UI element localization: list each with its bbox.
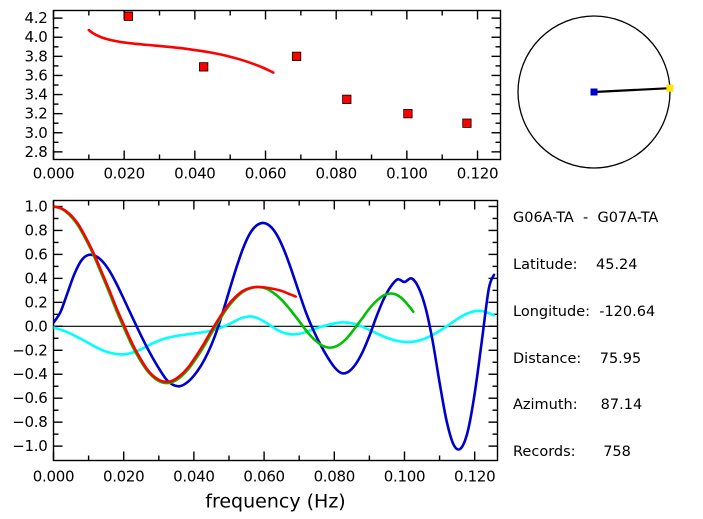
dispersion-data-point	[292, 52, 300, 60]
x-tick-label: 0.100	[384, 468, 425, 486]
y-tick-label: 0.8	[25, 221, 48, 239]
y-tick-label: 3.2	[25, 105, 48, 123]
spectrum-curve-bessel-fit-red	[54, 206, 296, 381]
y-tick-label: −0.4	[12, 365, 47, 383]
y-tick-label: 3.0	[25, 124, 48, 142]
x-tick-label: 0.040	[173, 468, 214, 486]
dispersion-data-point	[404, 109, 412, 117]
dispersion-data-point	[463, 119, 471, 127]
station-info-panel: G06A-TA - G07A-TA Latitude: 45.24 Longit…	[513, 180, 703, 492]
x-tick-label: 0.040	[174, 165, 215, 183]
y-tick-label: −0.8	[12, 413, 47, 431]
dispersion-data-point	[199, 63, 207, 71]
dispersion-data-point	[124, 12, 132, 20]
y-tick-label: 1.0	[25, 197, 48, 215]
y-tick-label: 4.2	[25, 9, 48, 27]
x-tick-label: 0.020	[103, 468, 144, 486]
azimuth-ray	[594, 88, 670, 92]
x-tick-label: 0.020	[103, 165, 144, 183]
x-tick-label: 0.080	[315, 165, 356, 183]
distance-row: Distance: 75.95	[513, 352, 703, 368]
x-tick-label: 0.100	[386, 165, 427, 183]
x-tick-label: 0.000	[33, 468, 74, 486]
y-tick-label: 2.8	[25, 143, 48, 161]
y-tick-label: −0.2	[12, 341, 47, 359]
latitude-row: Latitude: 45.24	[513, 258, 703, 274]
records-row: Records: 758	[513, 445, 703, 461]
x-tick-label: 0.060	[243, 468, 284, 486]
plot-frame	[54, 11, 501, 160]
y-tick-label: −1.0	[12, 437, 47, 455]
y-tick-label: 0.2	[25, 293, 48, 311]
station-pair-title: G06A-TA - G07A-TA	[513, 211, 703, 227]
y-tick-label: −0.6	[12, 389, 47, 407]
dispersion-curve	[89, 30, 273, 73]
plot-window: 2.83.03.23.43.63.84.04.20.0000.0200.0400…	[0, 0, 703, 519]
x-tick-label: 0.120	[454, 468, 495, 486]
y-tick-label: 0.6	[25, 245, 48, 263]
y-tick-label: 3.8	[25, 47, 48, 65]
x-tick-label: 0.120	[457, 165, 498, 183]
x-tick-label: 0.000	[33, 165, 74, 183]
x-axis-title: frequency (Hz)	[205, 491, 345, 513]
paired-station-marker	[666, 85, 673, 92]
longitude-row: Longitude: -120.64	[513, 305, 703, 321]
y-tick-label: 0.0	[25, 317, 48, 335]
y-tick-label: 0.4	[25, 269, 48, 287]
y-tick-label: 3.4	[25, 86, 48, 104]
x-tick-label: 0.060	[245, 165, 286, 183]
x-tick-label: 0.080	[314, 468, 355, 486]
azimuth-row: Azimuth: 87.14	[513, 398, 703, 414]
y-tick-label: 4.0	[25, 28, 48, 46]
reference-station-marker	[591, 89, 598, 96]
y-tick-label: 3.6	[25, 66, 48, 84]
dispersion-data-point	[343, 95, 351, 103]
azimuth-dial	[508, 6, 698, 178]
